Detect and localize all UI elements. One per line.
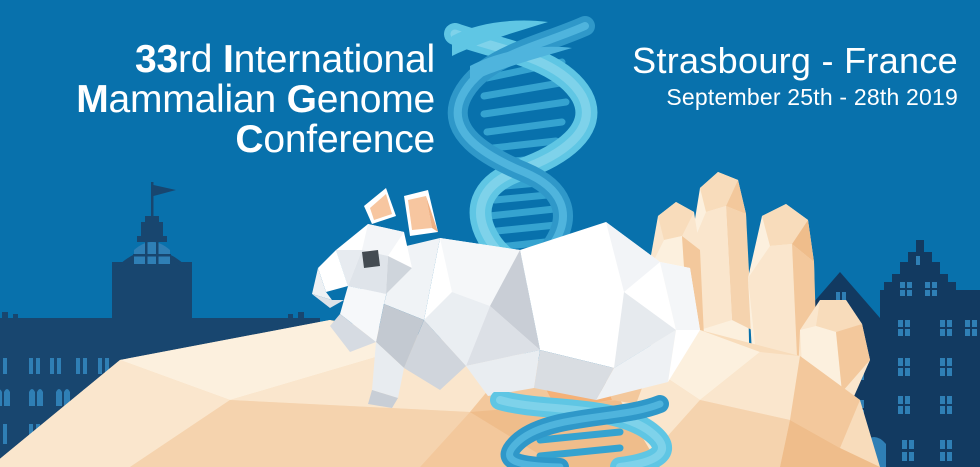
title-word-genome: enome [317, 78, 435, 121]
title-line-2: Mammalian Genome [0, 80, 440, 120]
title-cap-g: G [287, 78, 317, 121]
title-cap-i: I [223, 38, 234, 81]
title-line-3: Conference [0, 120, 440, 160]
dna-bottom-tail [500, 400, 662, 467]
location-dates: September 25th - 28th 2019 [632, 83, 958, 112]
title-line-1: 33rd International [0, 40, 440, 80]
edition-number: 33 [135, 38, 178, 81]
conference-title: 33rd International Mammalian Genome Conf… [0, 40, 440, 160]
title-word-international: nternational [234, 38, 435, 81]
conference-banner: 33rd International Mammalian Genome Conf… [0, 0, 980, 467]
location-block: Strasbourg - France September 25th - 28t… [632, 42, 958, 112]
title-cap-m: M [76, 78, 108, 121]
location-city: Strasbourg - France [632, 42, 958, 80]
title-word-mammalian: ammalian [109, 78, 287, 121]
edition-suffix: rd [178, 38, 223, 81]
title-cap-c: C [235, 118, 263, 161]
title-word-conference: onference [263, 118, 435, 161]
